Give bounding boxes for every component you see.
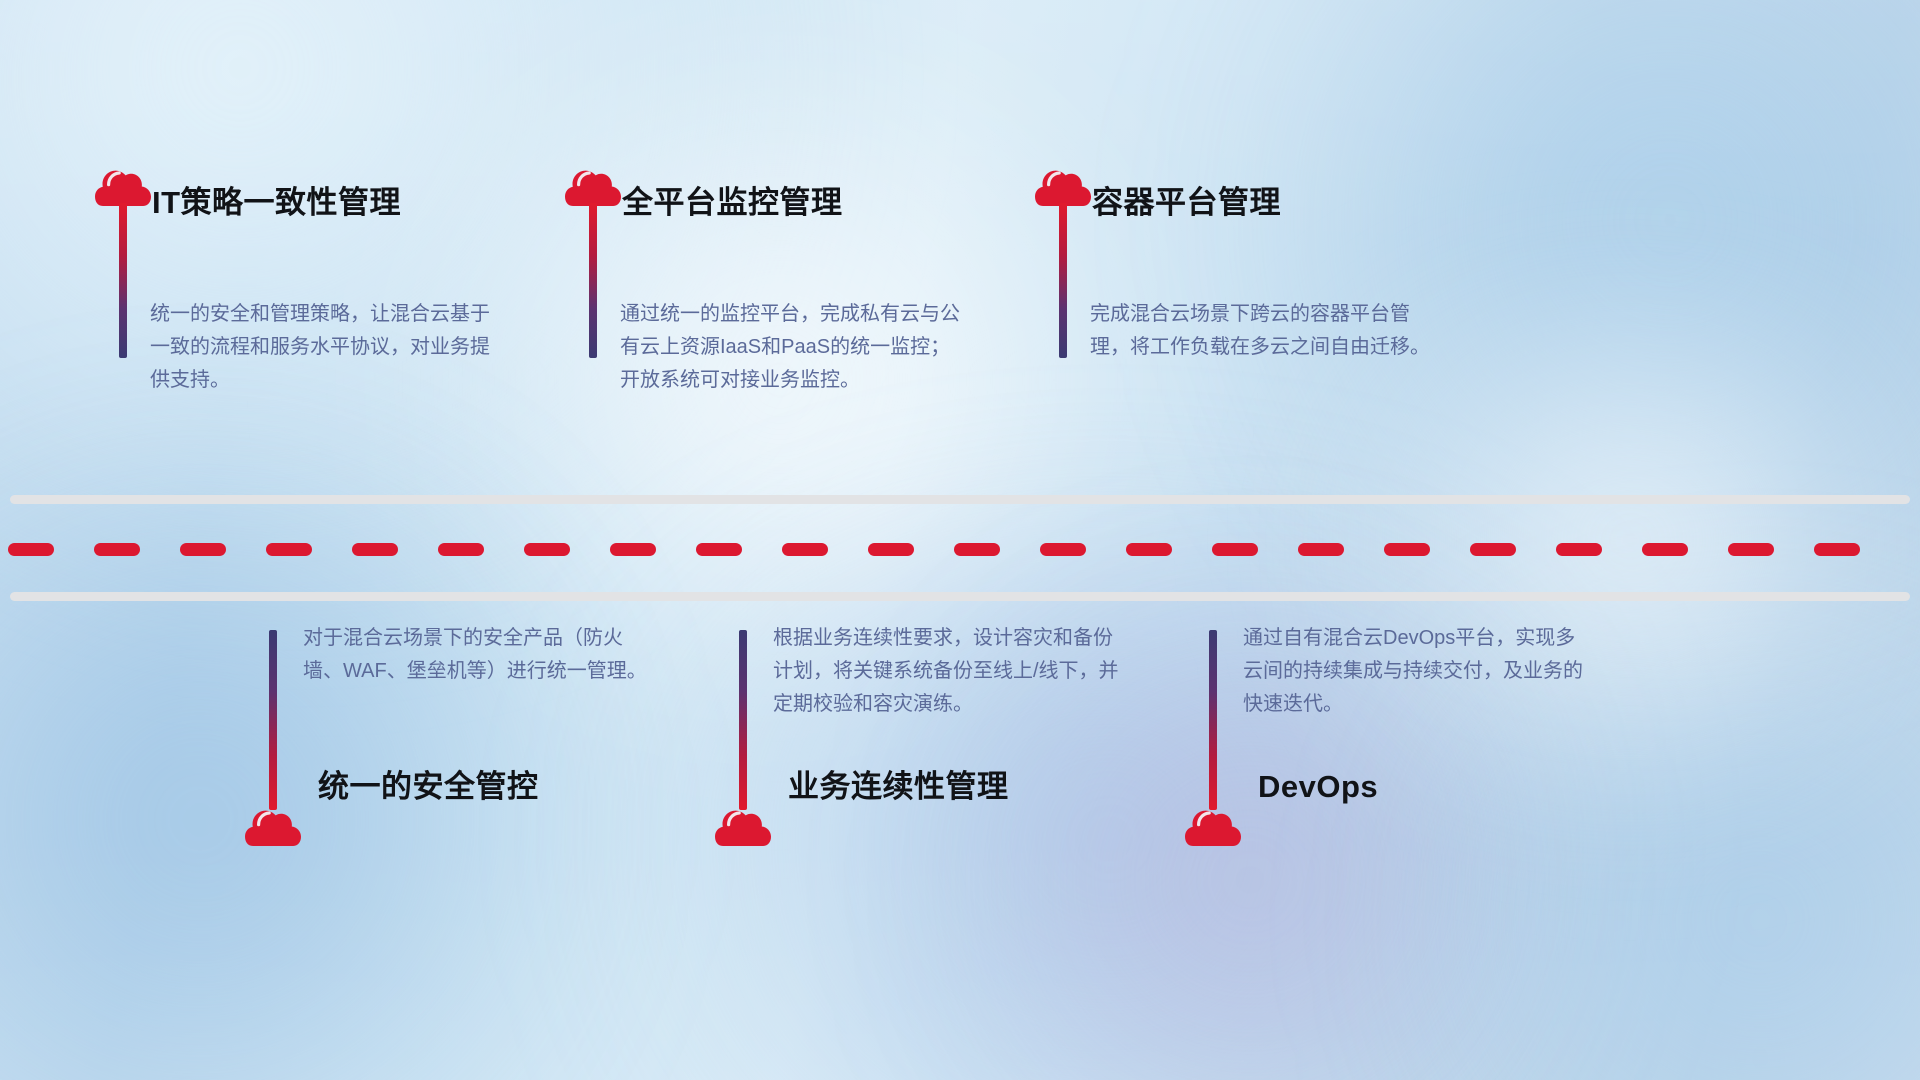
dash-segment — [1814, 543, 1860, 556]
dash-segment — [782, 543, 828, 556]
cloud-icon — [245, 805, 301, 847]
dash-segment — [1384, 543, 1430, 556]
timeline-stem — [1059, 203, 1067, 358]
dash-segment — [180, 543, 226, 556]
cloud-icon — [565, 165, 621, 207]
lower-rail — [10, 592, 1910, 601]
column-body: 通过统一的监控平台，完成私有云与公有云上资源IaaS和PaaS的统一监控；开放系… — [620, 298, 970, 397]
dash-segment — [1470, 543, 1516, 556]
column-body: 完成混合云场景下跨云的容器平台管理，将工作负载在多云之间自由迁移。 — [1090, 298, 1440, 364]
dash-segment — [438, 543, 484, 556]
dash-segment — [610, 543, 656, 556]
dash-segment — [94, 543, 140, 556]
dash-segment — [1728, 543, 1774, 556]
column-title: IT策略一致性管理 — [152, 184, 401, 221]
timeline-stem — [269, 630, 277, 810]
cloud-icon — [715, 805, 771, 847]
column-body: 对于混合云场景下的安全产品（防火墙、WAF、堡垒机等）进行统一管理。 — [303, 622, 655, 688]
dash-segment — [352, 543, 398, 556]
background-vignette — [0, 0, 1920, 1080]
background-gradient — [0, 0, 1920, 1080]
column-title: DevOps — [1258, 768, 1378, 805]
dash-segment — [954, 543, 1000, 556]
dash-segment — [1040, 543, 1086, 556]
cloud-icon — [1185, 805, 1241, 847]
column-title: 业务连续性管理 — [788, 768, 1009, 805]
dash-segment — [524, 543, 570, 556]
dash-segment — [1642, 543, 1688, 556]
timeline-stem — [739, 630, 747, 810]
dash-segment — [696, 543, 742, 556]
column-title: 容器平台管理 — [1092, 184, 1281, 221]
dash-segment — [1556, 543, 1602, 556]
column-title: 统一的安全管控 — [318, 768, 539, 805]
column-body: 根据业务连续性要求，设计容灾和备份计划，将关键系统备份至线上/线下，并定期校验和… — [773, 622, 1125, 721]
cloud-icon — [1035, 165, 1091, 207]
dash-segment — [1298, 543, 1344, 556]
column-title: 全平台监控管理 — [622, 184, 843, 221]
dash-segment — [266, 543, 312, 556]
dash-segment — [1212, 543, 1258, 556]
timeline-stem — [589, 203, 597, 358]
timeline-stem — [1209, 630, 1217, 810]
dash-segment — [1126, 543, 1172, 556]
dash-segment — [868, 543, 914, 556]
timeline-stem — [119, 203, 127, 358]
column-body: 通过自有混合云DevOps平台，实现多云间的持续集成与持续交付，及业务的快速迭代… — [1243, 622, 1595, 721]
cloud-icon — [95, 165, 151, 207]
column-body: 统一的安全和管理策略，让混合云基于一致的流程和服务水平协议，对业务提供支持。 — [150, 298, 500, 397]
dash-segment — [8, 543, 54, 556]
red-dashed-line — [0, 543, 1920, 556]
upper-rail — [10, 495, 1910, 504]
